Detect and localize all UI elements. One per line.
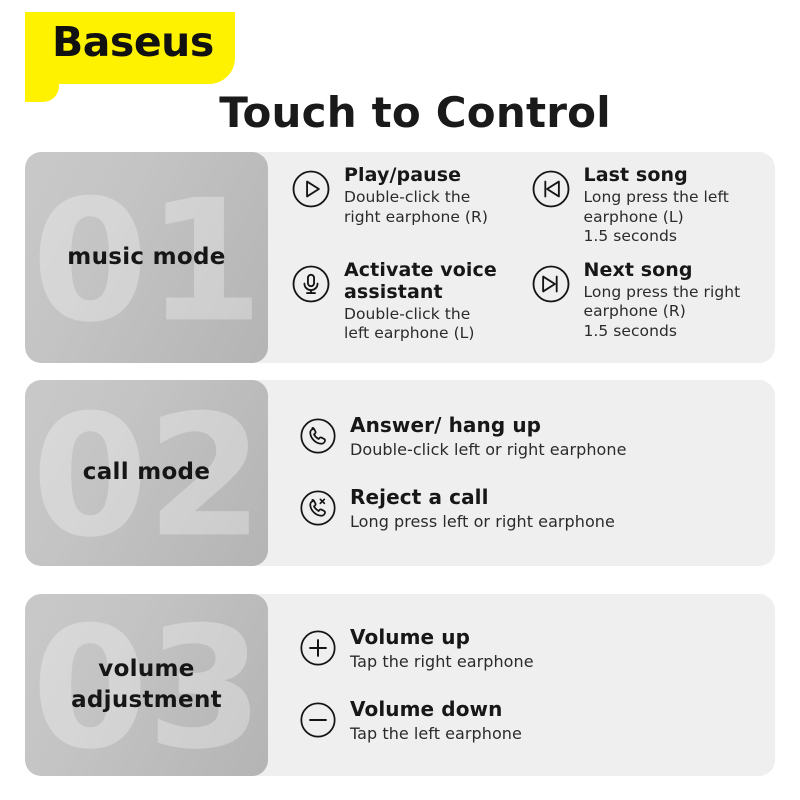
feature-description: Double-click the right earphone (R) xyxy=(344,188,488,227)
feature-text: Reject a call Long press left or right e… xyxy=(350,486,615,532)
page-title: Touch to Control xyxy=(0,88,800,137)
mode-panel-music: 01 music mode xyxy=(25,152,268,363)
mode-label: call mode xyxy=(83,457,210,488)
mode-label: music mode xyxy=(67,242,225,273)
phone-answer-icon xyxy=(298,416,338,456)
feature-next-song: Next song Long press the right earphone … xyxy=(530,259,766,354)
mode-card-volume: 03 volume adjustment Volume up Tap the r… xyxy=(25,594,775,776)
mode-panel-volume: 03 volume adjustment xyxy=(25,594,268,776)
mode-panel-call: 02 call mode xyxy=(25,380,268,566)
mode-card-music: 01 music mode Play/pause Double-click th… xyxy=(25,152,775,363)
previous-track-icon xyxy=(530,168,572,210)
baseus-logo-text: Baseus xyxy=(52,22,214,63)
feature-title: Answer/ hang up xyxy=(350,414,626,437)
feature-list-music: Play/pause Double-click the right earpho… xyxy=(268,152,775,363)
feature-text: Play/pause Double-click the right earpho… xyxy=(344,164,488,227)
feature-text: Next song Long press the right earphone … xyxy=(584,259,741,342)
feature-title: Volume down xyxy=(350,698,522,721)
feature-description: Long press the left earphone (L) 1.5 sec… xyxy=(584,188,729,247)
feature-list-call: Answer/ hang up Double-click left or rig… xyxy=(268,380,775,566)
page-header: Baseus Touch to Control xyxy=(0,0,800,152)
feature-title: Last song xyxy=(584,164,729,186)
mode-card-call: 02 call mode Answer/ hang up Double-clic… xyxy=(25,380,775,566)
feature-play-pause: Play/pause Double-click the right earpho… xyxy=(290,164,526,259)
feature-title: Reject a call xyxy=(350,486,615,509)
feature-last-song: Last song Long press the left earphone (… xyxy=(530,164,766,259)
feature-description: Long press the right earphone (R) 1.5 se… xyxy=(584,283,741,342)
next-track-icon xyxy=(530,263,572,305)
feature-reject-call: Reject a call Long press left or right e… xyxy=(298,486,765,532)
feature-description: Long press left or right earphone xyxy=(350,512,615,532)
feature-text: Volume up Tap the right earphone xyxy=(350,626,534,672)
feature-text: Activate voice assistant Double-click th… xyxy=(344,259,522,344)
feature-volume-up: Volume up Tap the right earphone xyxy=(298,626,765,672)
play-pause-icon xyxy=(290,168,332,210)
feature-title: Play/pause xyxy=(344,164,488,186)
feature-title: Next song xyxy=(584,259,741,281)
feature-title: Volume up xyxy=(350,626,534,649)
feature-description: Double-click the left earphone (L) xyxy=(344,305,522,344)
feature-list-volume: Volume up Tap the right earphone Volume … xyxy=(268,594,775,776)
feature-description: Tap the left earphone xyxy=(350,724,522,744)
feature-answer-hangup: Answer/ hang up Double-click left or rig… xyxy=(298,414,765,460)
feature-volume-down: Volume down Tap the left earphone xyxy=(298,698,765,744)
feature-text: Volume down Tap the left earphone xyxy=(350,698,522,744)
minus-circle-icon xyxy=(298,700,338,740)
plus-circle-icon xyxy=(298,628,338,668)
microphone-icon xyxy=(290,263,332,305)
feature-description: Double-click left or right earphone xyxy=(350,440,626,460)
feature-description: Tap the right earphone xyxy=(350,652,534,672)
mode-label: volume adjustment xyxy=(71,654,222,716)
feature-title: Activate voice assistant xyxy=(344,259,522,303)
feature-text: Last song Long press the left earphone (… xyxy=(584,164,729,247)
phone-reject-icon xyxy=(298,488,338,528)
feature-voice-assistant: Activate voice assistant Double-click th… xyxy=(290,259,526,354)
feature-text: Answer/ hang up Double-click left or rig… xyxy=(350,414,626,460)
